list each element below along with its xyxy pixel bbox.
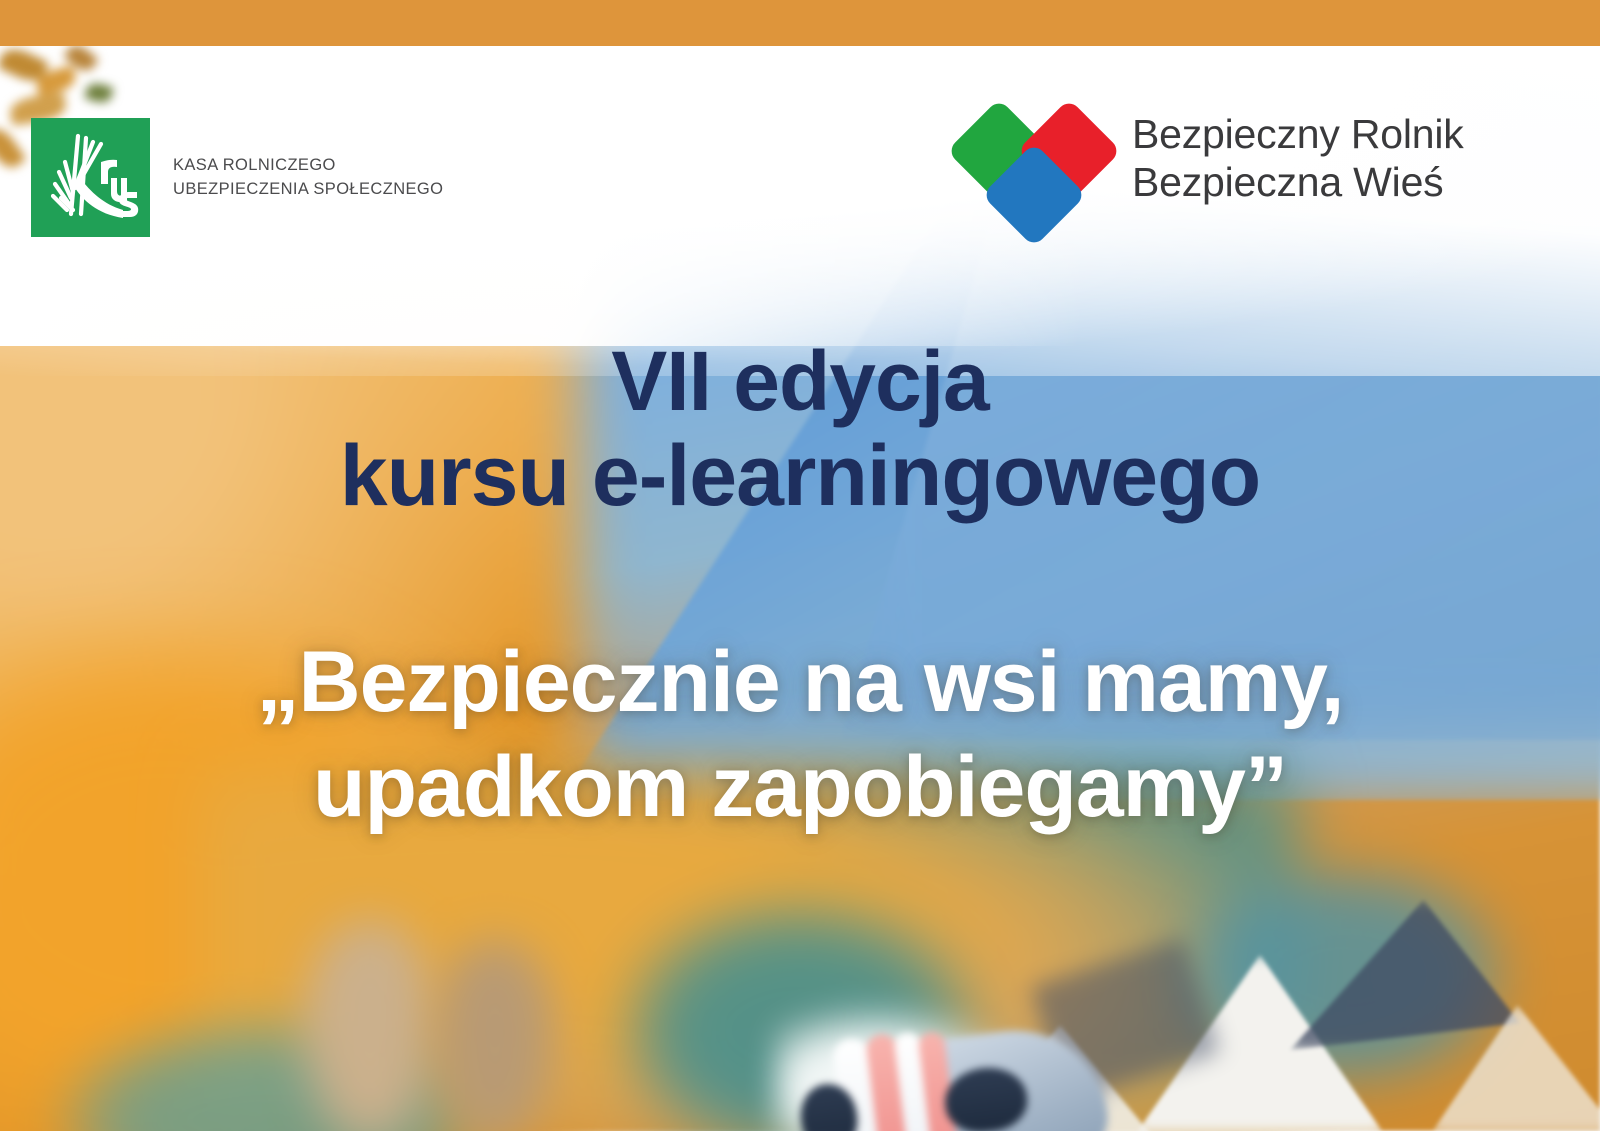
leaf-5	[84, 81, 114, 105]
brw-text-line-1: Bezpieczny Rolnik	[1132, 110, 1464, 158]
krus-text-line-1: KASA ROLNICZEGO	[173, 154, 443, 177]
headline-line-2: kursu e-learningowego	[0, 428, 1600, 524]
headline-line-1: VII edycja	[611, 334, 989, 428]
bezpieczny-rolnik-logo: Bezpieczny Rolnik Bezpieczna Wieś	[962, 112, 1464, 232]
poster-canvas: KASA ROLNICZEGO UBEZPIECZENIA SPOŁECZNEG…	[0, 0, 1600, 1131]
quote-line-1: „Bezpiecznie na wsi mamy,	[256, 634, 1343, 730]
three-diamonds-logo	[962, 112, 1110, 232]
leaf-6	[0, 123, 26, 173]
krus-logo: KASA ROLNICZEGO UBEZPIECZENIA SPOŁECZNEG…	[31, 118, 443, 237]
page-title: VII edycja kursu e-learningowego	[0, 334, 1600, 524]
krus-logo-text: KASA ROLNICZEGO UBEZPIECZENIA SPOŁECZNEG…	[173, 154, 443, 201]
brw-text-line-2: Bezpieczna Wieś	[1132, 158, 1464, 206]
krus-text-line-2: UBEZPIECZENIA SPOŁECZNEGO	[173, 178, 443, 201]
top-orange-bar	[0, 0, 1600, 46]
bicycle-helmet	[795, 1012, 1125, 1131]
bezpieczny-rolnik-text: Bezpieczny Rolnik Bezpieczna Wieś	[1132, 110, 1464, 207]
krus-wheat-sheaf-logo	[31, 118, 150, 237]
quote-line-2: upadkom zapobiegamy”	[0, 735, 1600, 840]
course-title-quote: „Bezpiecznie na wsi mamy, upadkom zapobi…	[0, 630, 1600, 840]
